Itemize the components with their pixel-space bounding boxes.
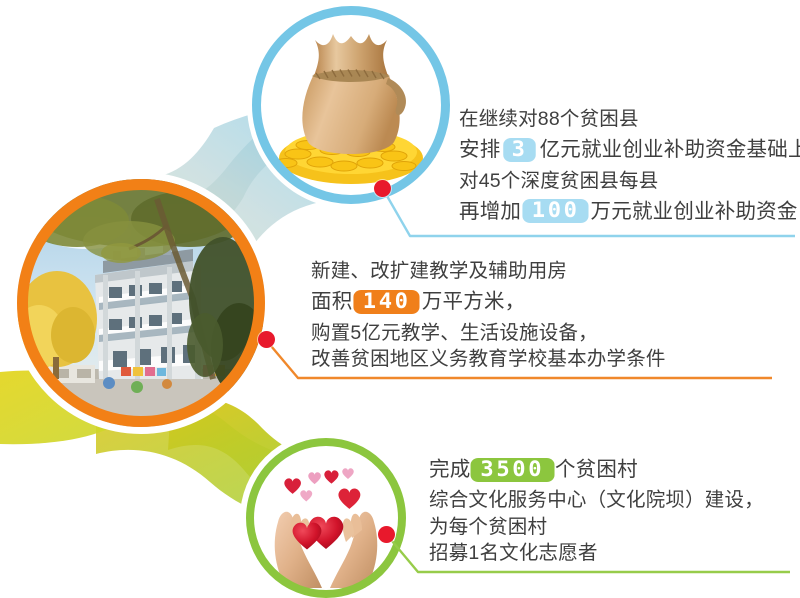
culture-line-4-text: 招募1名文化志愿者	[429, 540, 598, 566]
employment-line-4-after: 万元就业创业补助资金	[591, 198, 798, 225]
badge-employment-100-value: 100	[532, 200, 580, 221]
culture-line-3-text: 为每个贫困村	[429, 514, 547, 540]
school-line-2-before: 面积	[311, 288, 352, 315]
text-block-culture: 完成 3500 个贫困村 综合文化服务中心（文化院坝）建设， 为每个贫困村 招募…	[429, 452, 764, 566]
badge-culture-3500: 3500	[471, 458, 555, 482]
badge-employment-100: 100	[523, 199, 590, 223]
employment-line-2: 安排 3 亿元就业创业补助资金基础上，	[459, 136, 800, 163]
school-line-1-text: 新建、改扩建教学及辅助用房	[311, 258, 567, 284]
connector-dot-culture	[378, 526, 395, 543]
infographic-canvas: 在继续对88个贫困县 安排 3 亿元就业创业补助资金基础上， 对45个深度贫困县…	[0, 0, 800, 597]
employment-line-3-text: 对45个深度贫困县每县	[459, 168, 658, 194]
school-line-2: 面积 140 万平方米，	[311, 288, 666, 315]
text-block-school: 新建、改扩建教学及辅助用房 面积 140 万平方米， 购置5亿元教学、生活设施设…	[311, 258, 666, 372]
employment-line-3: 对45个深度贫困县每县	[459, 168, 800, 194]
text-block-employment: 在继续对88个贫困县 安排 3 亿元就业创业补助资金基础上， 对45个深度贫困县…	[459, 106, 800, 229]
school-line-4: 改善贫困地区义务教育学校基本办学条件	[311, 346, 666, 372]
school-line-4-text: 改善贫困地区义务教育学校基本办学条件	[311, 346, 666, 372]
connector-dot-employment	[374, 180, 391, 197]
school-circle-ring	[17, 179, 265, 427]
culture-line-1-after: 个贫困村	[555, 456, 638, 483]
culture-line-2: 综合文化服务中心（文化院坝）建设，	[429, 487, 764, 513]
school-line-3: 购置5亿元教学、生活设施设备，	[311, 320, 666, 346]
culture-line-4: 招募1名文化志愿者	[429, 540, 764, 566]
school-line-2-after: 万平方米，	[422, 288, 526, 315]
badge-culture-3500-value: 3500	[481, 459, 545, 480]
badge-school-140-value: 140	[363, 291, 411, 312]
money-circle-ring	[252, 6, 450, 204]
employment-line-2-after: 亿元就业创业补助资金基础上，	[540, 136, 800, 163]
badge-school-140: 140	[354, 290, 421, 314]
employment-line-1: 在继续对88个贫困县	[459, 106, 800, 132]
badge-employment-3-value: 3	[512, 139, 528, 160]
connector-dot-school	[258, 331, 275, 348]
school-line-1: 新建、改扩建教学及辅助用房	[311, 258, 666, 284]
employment-line-4: 再增加 100 万元就业创业补助资金	[459, 198, 800, 225]
culture-line-1: 完成 3500 个贫困村	[429, 456, 764, 483]
culture-line-3: 为每个贫困村	[429, 514, 764, 540]
employment-line-2-before: 安排	[459, 136, 500, 163]
employment-line-4-before: 再增加	[459, 198, 521, 225]
badge-employment-3: 3	[504, 138, 537, 162]
culture-line-2-text: 综合文化服务中心（文化院坝）建设，	[429, 487, 764, 513]
school-line-3-text: 购置5亿元教学、生活设施设备，	[311, 320, 598, 346]
hands-circle-ring	[246, 438, 406, 598]
employment-line-1-text: 在继续对88个贫困县	[459, 106, 639, 132]
culture-line-1-before: 完成	[429, 456, 470, 483]
